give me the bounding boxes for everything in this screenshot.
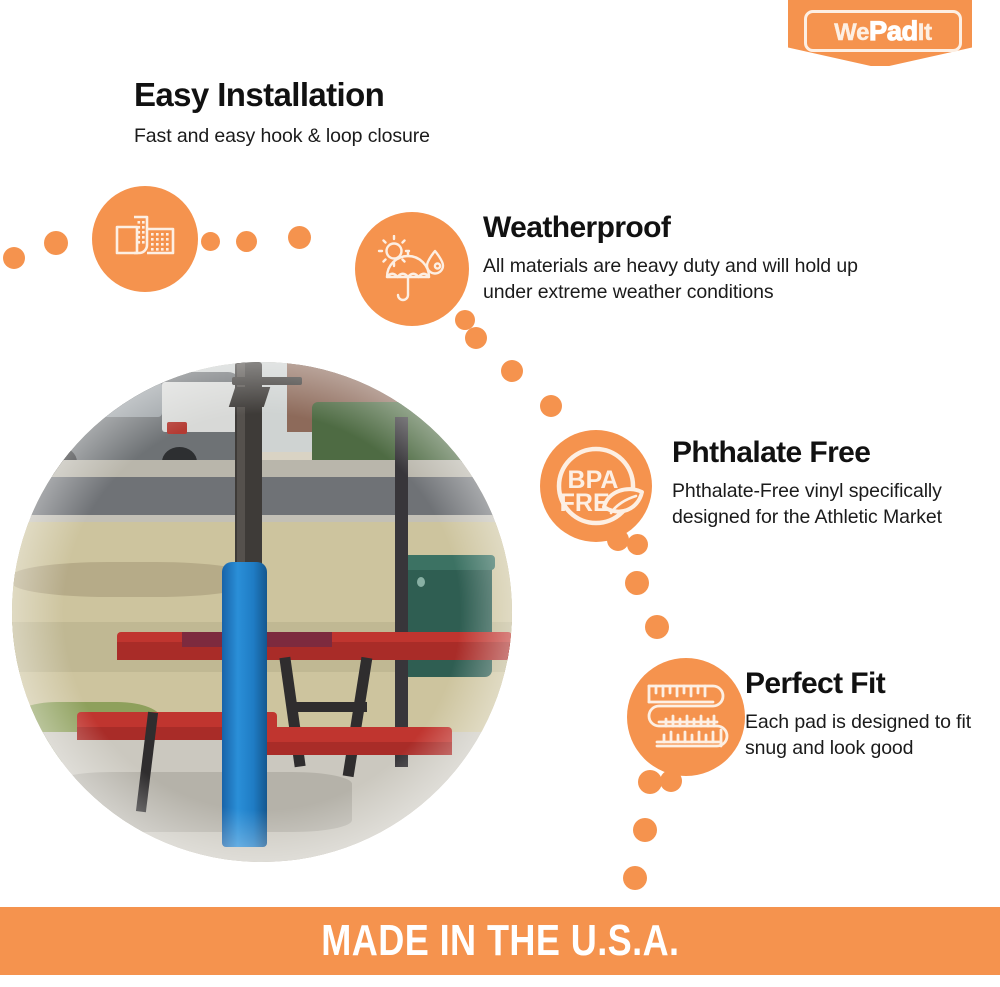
trail-dot [44, 231, 68, 255]
logo-word-we: We [834, 19, 869, 46]
logo-outline-box: WePadIt [804, 10, 962, 52]
logo-text: WePadIt [834, 18, 932, 45]
trail-dot [607, 529, 629, 551]
hook-and-loop-icon [114, 212, 176, 266]
feature-title-weatherproof: Weatherproof [483, 212, 903, 244]
made-in-usa-banner: MADE IN THE U.S.A. [0, 907, 1000, 975]
umbrella-sun-raindrop-icon [375, 235, 449, 303]
infographic-root: WePadIt Easy Installation Fast and easy … [0, 0, 1000, 987]
bpa-free-leaf-icon: BPA FREE [546, 436, 646, 536]
brand-logo: WePadIt [788, 0, 972, 66]
feature-title-perfect-fit: Perfect Fit [745, 668, 985, 700]
photo-vignette [12, 362, 512, 862]
feature-description-weatherproof: All materials are heavy duty and will ho… [483, 253, 903, 305]
measuring-tape-icon [643, 678, 729, 756]
trail-dot [625, 571, 649, 595]
feature-description-phthalate-free: Phthalate-Free vinyl specifically design… [672, 478, 972, 530]
trail-dot [645, 615, 669, 639]
trail-dot [638, 770, 662, 794]
icon-circle-phthalate-free: BPA FREE [540, 430, 652, 542]
icon-circle-perfect-fit [627, 658, 745, 776]
feature-block-easy-installation: Easy Installation Fast and easy hook & l… [134, 78, 564, 149]
decor-nub-phthalate-free [627, 534, 648, 555]
feature-title-phthalate-free: Phthalate Free [672, 437, 972, 469]
trail-dot [288, 226, 311, 249]
feature-description-easy-installation: Fast and easy hook & loop closure [134, 123, 564, 149]
logo-word-it: It [918, 19, 932, 46]
icon-circle-easy-installation [92, 186, 198, 292]
decor-nub-easy-installation [201, 232, 220, 251]
feature-description-perfect-fit: Each pad is designed to fit snug and loo… [745, 709, 985, 761]
icon-circle-weatherproof [355, 212, 469, 326]
made-in-usa-text: MADE IN THE U.S.A. [321, 916, 679, 966]
feature-block-perfect-fit: Perfect Fit Each pad is designed to fit … [745, 668, 985, 761]
feature-block-phthalate-free: Phthalate Free Phthalate-Free vinyl spec… [672, 437, 972, 530]
trail-dot [633, 818, 657, 842]
decor-nub-perfect-fit [660, 770, 682, 792]
feature-block-weatherproof: Weatherproof All materials are heavy dut… [483, 212, 903, 305]
trail-dot [236, 231, 257, 252]
trail-dot [540, 395, 562, 417]
trail-dot [465, 327, 487, 349]
feature-title-easy-installation: Easy Installation [134, 78, 564, 113]
product-photo [12, 362, 512, 862]
logo-word-pad: Pad [869, 16, 918, 46]
trail-dot [623, 866, 647, 890]
trail-dot [3, 247, 25, 269]
